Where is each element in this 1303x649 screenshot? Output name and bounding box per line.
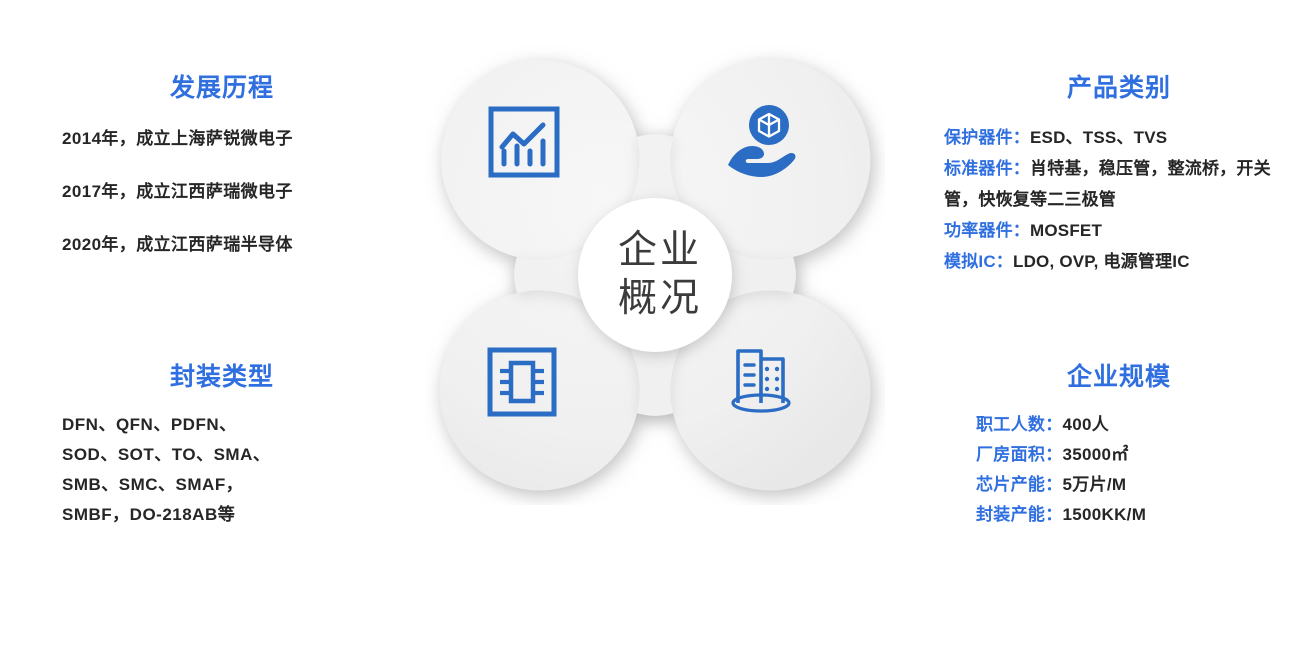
panel-history-heading: 发展历程 <box>62 68 382 104</box>
history-item: 2014年，成立上海萨锐微电子 <box>62 124 382 149</box>
panel-package-heading: 封装类型 <box>62 357 382 393</box>
product-row-value: ESD、TSS、TVS <box>1030 128 1167 147</box>
panel-product-category: 产品类别 保护器件：ESD、TSS、TVS 标准器件：肖特基，稳压管，整流桥，开… <box>944 68 1294 277</box>
panel-scale-heading: 企业规模 <box>944 357 1294 393</box>
scale-row-label: 职工人数： <box>976 415 1063 434</box>
scale-row-value: 35000㎡ <box>1063 445 1129 464</box>
package-line: SMBF，DO-218AB等 <box>62 500 382 530</box>
node-growth-chart <box>485 103 595 213</box>
growth-chart-icon <box>485 103 563 181</box>
product-row-label: 模拟IC： <box>944 252 1013 271</box>
office-building-icon <box>721 341 803 423</box>
node-company-scale <box>721 341 831 451</box>
package-line: SMB、SMC、SMAF， <box>62 470 382 500</box>
scale-row-label: 厂房面积： <box>976 445 1063 464</box>
product-row-value: MOSFET <box>1030 221 1102 240</box>
product-row-value: LDO, OVP, 电源管理IC <box>1013 252 1190 271</box>
scale-row-label: 封装产能： <box>976 505 1063 524</box>
panel-package-type: 封装类型 DFN、QFN、PDFN、 SOD、SOT、TO、SMA、 SMB、S… <box>62 357 382 530</box>
center-title: 企业 概况 <box>585 200 735 350</box>
scale-row-value: 1500KK/M <box>1063 505 1147 524</box>
scale-row-value: 5万片/M <box>1063 475 1127 494</box>
scale-row-value: 400人 <box>1063 415 1110 434</box>
node-product-category <box>720 103 830 213</box>
center-title-line1: 企业 <box>618 227 702 275</box>
hand-holding-box-icon <box>720 103 804 183</box>
product-row: 模拟IC：LDO, OVP, 电源管理IC <box>944 246 1294 277</box>
package-line: DFN、QFN、PDFN、 <box>62 410 382 440</box>
scale-row: 封装产能：1500KK/M <box>976 500 1294 530</box>
product-row: 功率器件：MOSFET <box>944 215 1294 246</box>
history-item: 2020年，成立江西萨瑞半导体 <box>62 230 382 255</box>
panel-products-heading: 产品类别 <box>944 68 1294 104</box>
scale-row: 职工人数：400人 <box>976 410 1294 440</box>
product-row: 标准器件：肖特基，稳压管，整流桥，开关管，快恢复等二三极管 <box>944 153 1294 215</box>
scale-row: 芯片产能：5万片/M <box>976 470 1294 500</box>
scale-row: 厂房面积：35000㎡ <box>976 440 1294 470</box>
scale-row-label: 芯片产能： <box>976 475 1063 494</box>
package-line: SOD、SOT、TO、SMA、 <box>62 440 382 470</box>
product-row: 保护器件：ESD、TSS、TVS <box>944 122 1294 153</box>
product-row-label: 功率器件： <box>944 221 1030 240</box>
company-overview-diagram: 企业 概况 <box>425 45 885 505</box>
history-item: 2017年，成立江西萨瑞微电子 <box>62 177 382 202</box>
panel-company-scale: 企业规模 职工人数：400人 厂房面积：35000㎡ 芯片产能：5万片/M 封装… <box>944 357 1294 530</box>
product-row-label: 保护器件： <box>944 128 1030 147</box>
product-row-label: 标准器件： <box>944 159 1030 178</box>
center-title-line2: 概况 <box>618 275 702 323</box>
panel-development-history: 发展历程 2014年，成立上海萨锐微电子 2017年，成立江西萨瑞微电子 202… <box>62 68 382 283</box>
node-package-type <box>483 343 593 453</box>
chip-icon <box>483 343 561 421</box>
